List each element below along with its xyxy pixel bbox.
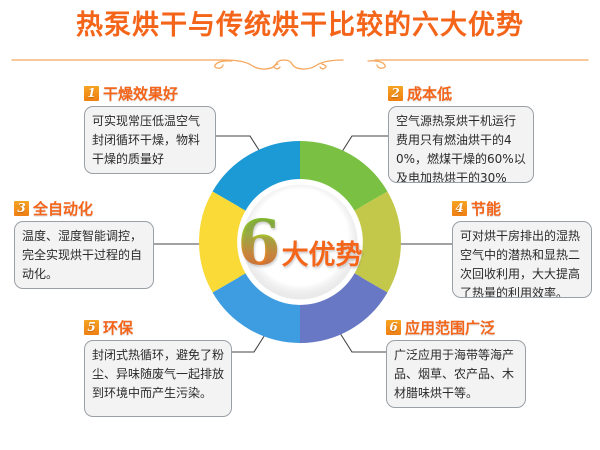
section-3-title: 全自动化 xyxy=(33,198,93,219)
section-5-badge: 5 xyxy=(84,320,99,335)
section-6[interactable]: 6 应用范围广泛 广泛应用于海带等海产品、烟草、农产品、木材腊味烘干等。 xyxy=(386,318,526,408)
section-2-badge: 2 xyxy=(388,86,403,101)
section-1-badge: 1 xyxy=(84,86,99,101)
donut-chart: 6 大优势 xyxy=(198,140,402,344)
section-2-title: 成本低 xyxy=(407,83,452,104)
section-6-badge: 6 xyxy=(386,320,401,335)
title-area: 热泵烘干与传统烘干比较的六大优势 xyxy=(0,8,600,44)
infographic-page: 热泵烘干与传统烘干比较的六大优势 xyxy=(0,0,600,450)
donut-segment-3 xyxy=(371,201,382,283)
page-title: 热泵烘干与传统烘干比较的六大优势 xyxy=(0,8,600,44)
flourish-divider-icon xyxy=(10,56,590,70)
section-5-box: 封闭式热循环，避免了粉尘、异味随废气一起排放到环境中而产生污染。 xyxy=(84,340,232,417)
section-6-body: 广泛应用于海带等海产品、烟草、农产品、木材腊味烘干等。 xyxy=(394,346,518,403)
section-4-badge: 4 xyxy=(452,201,467,216)
section-4-title: 节能 xyxy=(471,198,501,219)
section-2[interactable]: 2 成本低 空气源热泵烘干机运行费用只有燃油烘干的40%，燃煤干燥的60%以及电… xyxy=(388,84,534,183)
section-6-header: 6 应用范围广泛 xyxy=(386,318,526,337)
section-4-body: 可对烘干房排出的湿热空气中的潜热和显热二次回收利用，大大提高了热量的利用效率。 xyxy=(460,227,584,298)
section-3[interactable]: 3 全自动化 温度、湿度智能调控，完全实现烘干过程的自动化。 xyxy=(14,199,154,289)
section-6-title: 应用范围广泛 xyxy=(405,317,495,338)
section-5-body: 封闭式热循环，避免了粉尘、异味随废气一起排放到环境中而产生污染。 xyxy=(92,346,224,403)
section-1-body: 可实现常压低温空气封闭循环干燥，物料干燥的质量好 xyxy=(92,112,208,169)
section-6-box: 广泛应用于海带等海产品、烟草、农产品、木材腊味烘干等。 xyxy=(386,340,526,408)
section-3-badge: 3 xyxy=(14,201,29,216)
section-5-header: 5 环保 xyxy=(84,318,232,337)
section-3-header: 3 全自动化 xyxy=(14,199,154,218)
section-2-box: 空气源热泵烘干机运行费用只有燃油烘干的40%，燃煤干燥的60%以及电加热烘干的3… xyxy=(388,106,534,183)
section-5[interactable]: 5 环保 封闭式热循环，避免了粉尘、异味随废气一起排放到环境中而产生污染。 xyxy=(84,318,232,417)
section-3-body: 温度、湿度智能调控，完全实现烘干过程的自动化。 xyxy=(22,227,146,284)
section-3-box: 温度、湿度智能调控，完全实现烘干过程的自动化。 xyxy=(14,221,154,289)
section-4[interactable]: 4 节能 可对烘干房排出的湿热空气中的潜热和显热二次回收利用，大大提高了热量的利… xyxy=(452,199,592,298)
section-5-title: 环保 xyxy=(103,317,133,338)
section-4-box: 可对烘干房排出的湿热空气中的潜热和显热二次回收利用，大大提高了热量的利用效率。 xyxy=(452,221,592,298)
section-4-header: 4 节能 xyxy=(452,199,592,218)
section-1-header: 1 干燥效果好 xyxy=(84,84,216,103)
section-1[interactable]: 1 干燥效果好 可实现常压低温空气封闭循环干燥，物料干燥的质量好 xyxy=(84,84,216,174)
section-2-header: 2 成本低 xyxy=(388,84,534,103)
donut-segment-6 xyxy=(218,201,229,283)
section-2-body: 空气源热泵烘干机运行费用只有燃油烘干的40%，燃煤干燥的60%以及电加热烘干的3… xyxy=(396,112,526,183)
section-1-title: 干燥效果好 xyxy=(103,83,178,104)
section-1-box: 可实现常压低温空气封闭循环干燥，物料干燥的质量好 xyxy=(84,106,216,174)
